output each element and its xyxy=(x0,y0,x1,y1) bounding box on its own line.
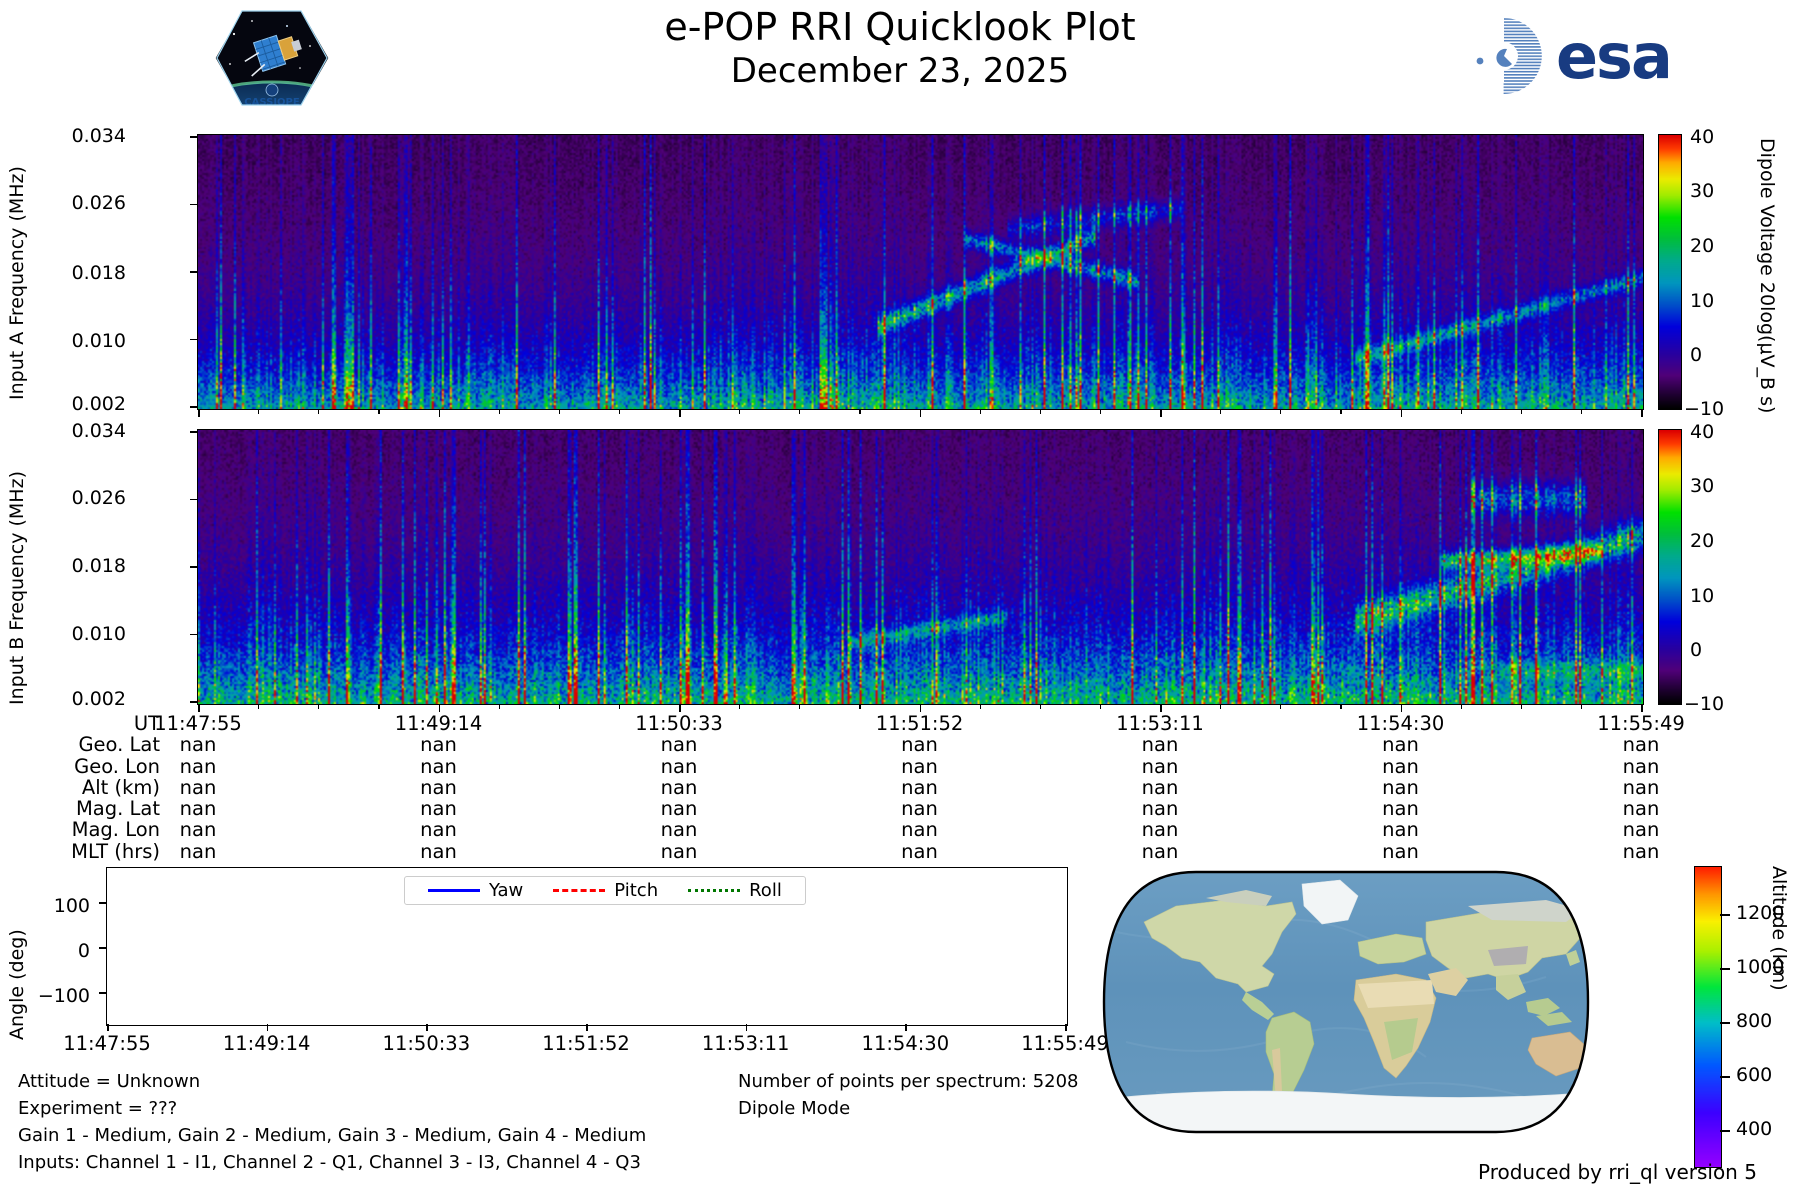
info-table: UT11:47:5511:49:1411:50:3311:51:5211:53:… xyxy=(0,712,1700,861)
info-cell: nan xyxy=(138,818,258,841)
legend-label-roll: Roll xyxy=(749,880,782,901)
axis-minor-tick xyxy=(1040,705,1041,709)
spectrogram-input-a-canvas xyxy=(198,135,1643,409)
axis-minor-tick xyxy=(799,705,800,709)
axis-minor-tick xyxy=(378,705,379,709)
info-cell: nan xyxy=(619,818,739,841)
esa-logo: esa xyxy=(1460,12,1690,94)
attitude-xtick-0: 11:47:55 xyxy=(37,1032,177,1055)
footer-produced-by: Produced by rri_ql version 5 xyxy=(1478,1160,1757,1184)
spectrogram-colorbar-b xyxy=(1658,429,1682,705)
world-map[interactable] xyxy=(1096,862,1596,1142)
attitude-tick-x xyxy=(267,1024,269,1031)
attitude-xtick-5: 11:54:30 xyxy=(835,1032,975,1055)
info-row-geo-lon: Geo. Lonnannannannannannannan xyxy=(0,755,1700,776)
spectrogram-input-b-canvas xyxy=(198,430,1643,704)
info-cell: 11:53:11 xyxy=(1100,712,1220,735)
axis-minor-tick xyxy=(619,705,620,709)
panel-b-ytick-4: 0.002 xyxy=(38,688,126,710)
panel-b-ytick-0: 0.034 xyxy=(38,420,126,442)
axis-minor-tick xyxy=(859,705,860,709)
legend-label-pitch: Pitch xyxy=(614,880,658,901)
cbar-a-tick-1: 30 xyxy=(1690,180,1714,202)
axis-minor-tick xyxy=(439,705,440,709)
info-cell: nan xyxy=(138,776,258,799)
axis-minor-tick xyxy=(739,410,740,414)
axis-minor-tick xyxy=(679,410,680,414)
axis-minor-tick xyxy=(499,410,500,414)
attitude-ytick-1: 0 xyxy=(0,940,90,962)
info-cell: nan xyxy=(138,733,258,756)
info-cell: nan xyxy=(619,840,739,863)
info-cell: nan xyxy=(1100,755,1220,778)
attitude-tick-y xyxy=(99,947,107,949)
info-cell: nan xyxy=(860,755,980,778)
altitude-tick-2: 800 xyxy=(1736,1010,1772,1032)
axis-minor-tick xyxy=(1160,410,1161,414)
info-cell: nan xyxy=(1341,755,1461,778)
legend-line-yaw xyxy=(428,889,480,892)
axis-minor-tick xyxy=(1040,410,1041,414)
cbar-b-tick-4: 0 xyxy=(1690,639,1702,661)
axis-minor-tick xyxy=(1641,705,1642,709)
info-cell: nan xyxy=(379,840,499,863)
info-cell: nan xyxy=(619,797,739,820)
info-cell: nan xyxy=(1100,818,1220,841)
axis-minor-tick xyxy=(739,705,740,709)
info-row-mlt-hrs: MLT (hrs)nannannannannannannan xyxy=(0,840,1700,861)
panel-b-ylabel: Input B Frequency (MHz) xyxy=(6,455,28,705)
axis-minor-tick xyxy=(1521,410,1522,414)
info-cell: nan xyxy=(1100,797,1220,820)
axis-minor-tick xyxy=(1641,410,1642,414)
info-cell: nan xyxy=(1341,797,1461,820)
footer-experiment: Experiment = ??? xyxy=(18,1098,177,1119)
info-cell: nan xyxy=(1100,776,1220,799)
axis-minor-tick xyxy=(1100,410,1101,414)
cbar-a-tick-0: 40 xyxy=(1690,126,1714,148)
attitude-tick-x xyxy=(905,1024,907,1031)
info-row-geo-lat: Geo. Latnannannannannannannan xyxy=(0,733,1700,754)
info-row-mag-lat: Mag. Latnannannannannannannan xyxy=(0,797,1700,818)
axis-tick-y xyxy=(190,566,198,568)
axis-minor-tick xyxy=(1581,705,1582,709)
info-cell: nan xyxy=(860,776,980,799)
axis-tick-y xyxy=(190,204,198,206)
attitude-tick-x xyxy=(746,1024,748,1031)
axis-minor-tick xyxy=(439,410,440,414)
legend-label-yaw: Yaw xyxy=(489,880,523,901)
axis-minor-tick xyxy=(799,410,800,414)
info-cell: 11:50:33 xyxy=(619,712,739,735)
axis-minor-tick xyxy=(559,705,560,709)
attitude-tick-x xyxy=(586,1024,588,1031)
info-row-mag-lon: Mag. Lonnannannannannannannan xyxy=(0,818,1700,839)
info-cell: nan xyxy=(860,797,980,820)
axis-minor-tick xyxy=(1220,705,1221,709)
info-cell: nan xyxy=(379,776,499,799)
axis-minor-tick xyxy=(318,705,319,709)
altitude-colorbar-label: Altitude (km) xyxy=(1768,866,1790,1166)
attitude-tick-x xyxy=(426,1024,428,1031)
axis-tick-y xyxy=(190,701,198,703)
axis-minor-tick xyxy=(920,410,921,414)
info-cell: nan xyxy=(1100,840,1220,863)
info-cell: nan xyxy=(1581,776,1701,799)
axis-tick-y xyxy=(190,271,198,273)
footer-mode: Dipole Mode xyxy=(738,1098,850,1119)
panel-a-ytick-1: 0.026 xyxy=(38,192,126,214)
info-cell: nan xyxy=(619,733,739,756)
info-cell: nan xyxy=(138,797,258,820)
info-cell: nan xyxy=(1581,755,1701,778)
axis-minor-tick xyxy=(1220,410,1221,414)
axis-tick-y xyxy=(190,634,198,636)
axis-minor-tick xyxy=(258,705,259,709)
cbar-a-tick-4: 0 xyxy=(1690,344,1702,366)
altitude-tickmark xyxy=(1720,1076,1730,1078)
legend-item-roll: Roll xyxy=(688,880,782,901)
info-cell: nan xyxy=(379,797,499,820)
cbar-b-tick-2: 20 xyxy=(1690,530,1714,552)
info-cell: nan xyxy=(860,818,980,841)
axis-minor-tick xyxy=(619,410,620,414)
attitude-tick-y xyxy=(99,902,107,904)
axis-minor-tick xyxy=(920,705,921,709)
altitude-colorbar xyxy=(1694,866,1722,1168)
cbar-b-tick-0: 40 xyxy=(1690,421,1714,443)
legend-item-yaw: Yaw xyxy=(428,880,523,901)
altitude-tickmark xyxy=(1720,968,1730,970)
axis-minor-tick xyxy=(679,705,680,709)
info-cell: nan xyxy=(138,755,258,778)
info-cell: nan xyxy=(619,776,739,799)
axis-tick-y xyxy=(190,406,198,408)
panel-b-ytick-3: 0.010 xyxy=(38,623,126,645)
axis-minor-tick xyxy=(1461,705,1462,709)
axis-minor-tick xyxy=(198,705,199,709)
axis-minor-tick xyxy=(499,705,500,709)
info-cell: nan xyxy=(1581,840,1701,863)
panel-a-ytick-3: 0.010 xyxy=(38,330,126,352)
info-row-ut: UT11:47:5511:49:1411:50:3311:51:5211:53:… xyxy=(0,712,1700,733)
panel-b-ytick-1: 0.026 xyxy=(38,487,126,509)
axis-minor-tick xyxy=(1401,705,1402,709)
axis-minor-tick xyxy=(1100,705,1101,709)
altitude-tick-4: 400 xyxy=(1736,1118,1772,1140)
info-cell: nan xyxy=(1341,776,1461,799)
cbar-b-tick-1: 30 xyxy=(1690,475,1714,497)
info-cell: 11:51:52 xyxy=(860,712,980,735)
attitude-xtick-3: 11:51:52 xyxy=(516,1032,656,1055)
info-cell: 11:54:30 xyxy=(1341,712,1461,735)
axis-minor-tick xyxy=(559,410,560,414)
info-cell: nan xyxy=(1581,797,1701,820)
panel-a-ytick-2: 0.018 xyxy=(38,262,126,284)
axis-tick-y xyxy=(190,499,198,501)
attitude-ytick-2: −100 xyxy=(0,985,90,1007)
info-cell: nan xyxy=(1581,818,1701,841)
panel-b-ytick-2: 0.018 xyxy=(38,555,126,577)
info-cell: nan xyxy=(379,755,499,778)
attitude-xtick-4: 11:53:11 xyxy=(676,1032,816,1055)
panel-a-ytick-0: 0.034 xyxy=(38,125,126,147)
spectrogram-input-a[interactable] xyxy=(197,134,1644,410)
info-cell: nan xyxy=(138,840,258,863)
svg-text:esa: esa xyxy=(1556,20,1671,93)
cassiope-logo: CASSIOPE xyxy=(212,6,332,111)
axis-minor-tick xyxy=(1581,410,1582,414)
attitude-tick-x xyxy=(1065,1024,1067,1031)
spectrogram-colorbar-a xyxy=(1658,134,1682,410)
info-cell: 11:49:14 xyxy=(379,712,499,735)
axis-minor-tick xyxy=(1280,410,1281,414)
axis-minor-tick xyxy=(1401,410,1402,414)
altitude-tickmark xyxy=(1720,1022,1730,1024)
axis-minor-tick xyxy=(1340,410,1341,414)
spectrogram-colorbar-label: Dipole Voltage 20log(μV_B s) xyxy=(1756,138,1778,438)
info-cell: nan xyxy=(1341,733,1461,756)
panel-a-ylabel: Input A Frequency (MHz) xyxy=(6,150,28,400)
footer-points-per-spectrum: Number of points per spectrum: 5208 xyxy=(738,1071,1079,1092)
info-cell: nan xyxy=(619,755,739,778)
attitude-ytick-0: 100 xyxy=(0,895,90,917)
axis-tick-y xyxy=(190,431,198,433)
info-row-alt-km: Alt (km)nannannannannannannan xyxy=(0,776,1700,797)
info-cell: nan xyxy=(379,733,499,756)
attitude-legend: Yaw Pitch Roll xyxy=(404,876,806,905)
cbar-a-tick-2: 20 xyxy=(1690,235,1714,257)
axis-minor-tick xyxy=(378,410,379,414)
altitude-tick-3: 600 xyxy=(1736,1064,1772,1086)
altitude-tickmark xyxy=(1720,1130,1730,1132)
info-cell: 11:47:55 xyxy=(138,712,258,735)
attitude-tick-x xyxy=(107,1024,109,1031)
axis-minor-tick xyxy=(980,410,981,414)
axis-minor-tick xyxy=(198,410,199,414)
axis-minor-tick xyxy=(1461,410,1462,414)
info-cell: nan xyxy=(860,733,980,756)
altitude-tickmark xyxy=(1720,914,1730,916)
info-cell: nan xyxy=(1341,818,1461,841)
axis-minor-tick xyxy=(1521,705,1522,709)
axis-minor-tick xyxy=(1160,705,1161,709)
spectrogram-input-b[interactable] xyxy=(197,429,1644,705)
cbar-a-tick-3: 10 xyxy=(1690,290,1714,312)
info-cell: nan xyxy=(1100,733,1220,756)
info-cell: nan xyxy=(1341,840,1461,863)
axis-tick-y xyxy=(190,136,198,138)
attitude-xtick-2: 11:50:33 xyxy=(356,1032,496,1055)
axis-minor-tick xyxy=(859,410,860,414)
cbar-b-tick-3: 10 xyxy=(1690,585,1714,607)
footer-inputs: Inputs: Channel 1 - I1, Channel 2 - Q1, … xyxy=(18,1152,641,1173)
info-cell: 11:55:49 xyxy=(1581,712,1701,735)
legend-item-pitch: Pitch xyxy=(553,880,658,901)
axis-minor-tick xyxy=(258,410,259,414)
legend-line-roll xyxy=(688,889,740,892)
axis-minor-tick xyxy=(1340,705,1341,709)
attitude-tick-y xyxy=(99,992,107,994)
axis-minor-tick xyxy=(318,410,319,414)
panel-a-ytick-4: 0.002 xyxy=(38,393,126,415)
axis-minor-tick xyxy=(980,705,981,709)
footer-attitude: Attitude = Unknown xyxy=(18,1071,200,1092)
attitude-xtick-1: 11:49:14 xyxy=(197,1032,337,1055)
legend-line-pitch xyxy=(553,889,605,892)
info-cell: nan xyxy=(1581,733,1701,756)
axis-minor-tick xyxy=(1280,705,1281,709)
axis-tick-y xyxy=(190,339,198,341)
cbar-a-tick-5: −10 xyxy=(1684,398,1724,420)
footer-gain: Gain 1 - Medium, Gain 2 - Medium, Gain 3… xyxy=(18,1125,646,1146)
info-cell: nan xyxy=(379,818,499,841)
info-cell: nan xyxy=(860,840,980,863)
